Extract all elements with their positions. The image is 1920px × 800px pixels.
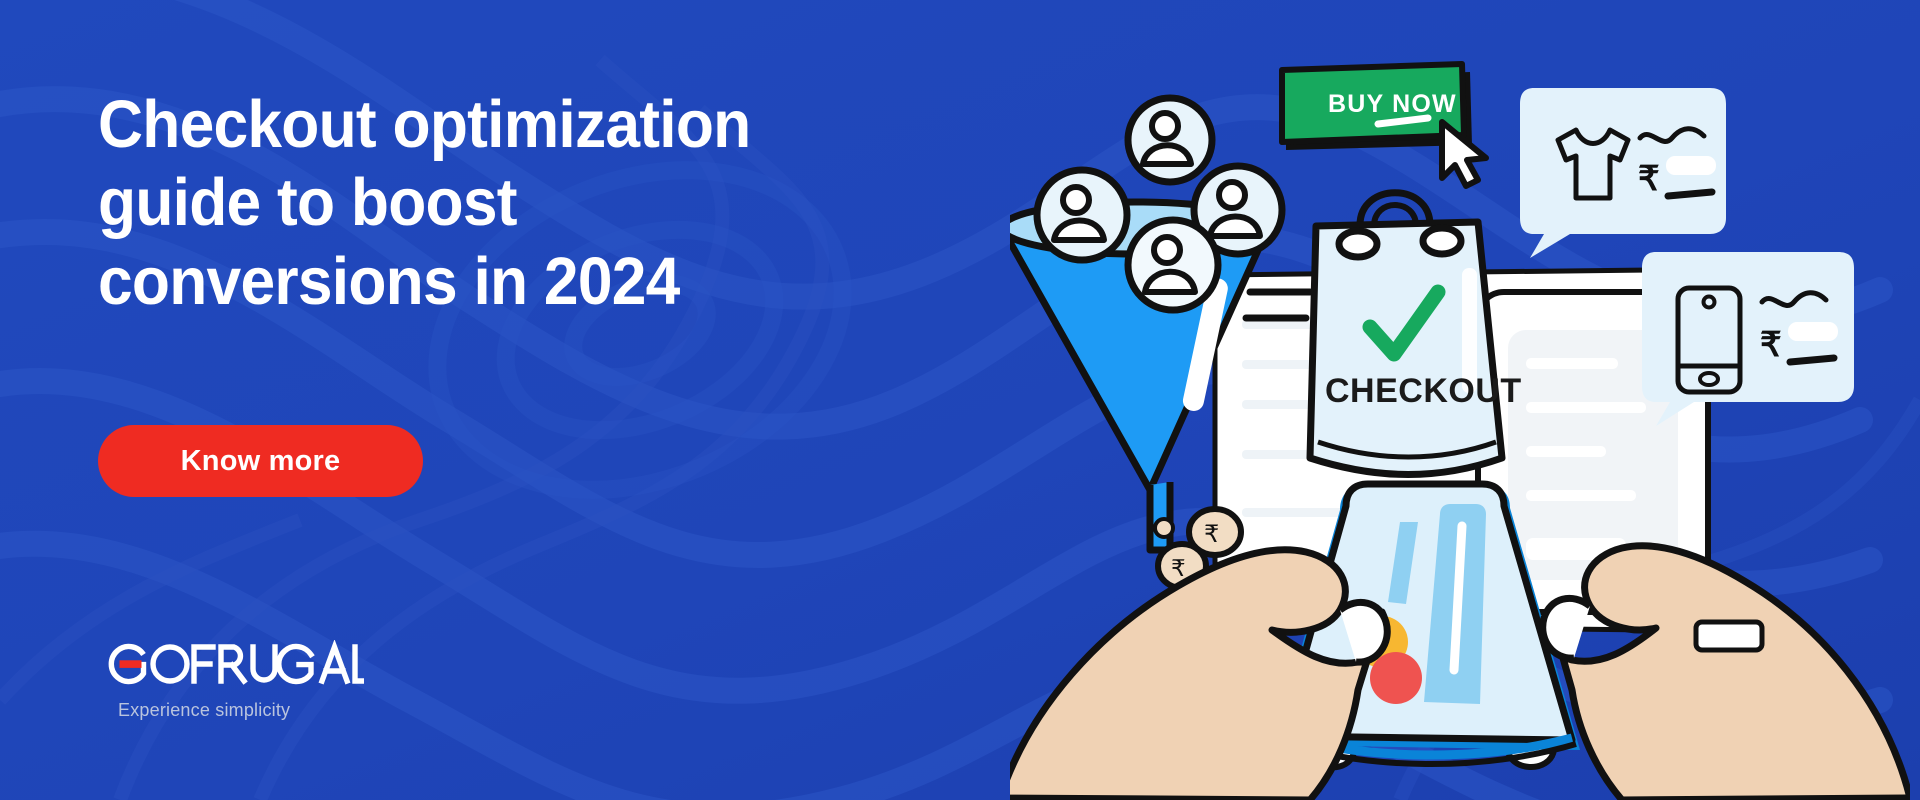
right-hand — [1543, 546, 1910, 800]
svg-text:₹: ₹ — [1204, 521, 1219, 548]
rupee-symbol: ₹ — [1638, 160, 1660, 198]
know-more-button[interactable]: Know more — [98, 425, 423, 497]
checkout-shopping-bag: CHECKOUT — [1310, 193, 1522, 475]
buy-now-label[interactable]: BUY NOW — [1328, 90, 1457, 118]
checkout-bag-label: CHECKOUT — [1325, 372, 1522, 410]
product-tshirt-bubble: ₹ — [1520, 88, 1726, 258]
user-avatar — [1128, 220, 1218, 310]
rupee-symbol: ₹ — [1760, 326, 1782, 364]
product-phone-bubble: ₹ — [1642, 252, 1854, 426]
logo-accent-bar — [120, 660, 142, 668]
gofrugal-logo[interactable]: Experience simplicity — [94, 640, 394, 721]
user-avatar — [1037, 170, 1127, 260]
payment-dot-red — [1370, 652, 1422, 704]
banner-text-column: Checkout optimization guide to boost con… — [98, 0, 918, 800]
logo-wordmark — [94, 640, 394, 693]
checkout-optimization-illustration: BUY NOW CHECKOUT — [1010, 30, 1910, 800]
svg-text:₹: ₹ — [1171, 555, 1186, 581]
left-hand — [1010, 550, 1387, 800]
page-title: Checkout optimization guide to boost con… — [98, 86, 805, 321]
promo-banner: Checkout optimization guide to boost con… — [0, 0, 1920, 800]
user-avatar — [1128, 98, 1212, 182]
logo-tagline: Experience simplicity — [118, 700, 394, 721]
